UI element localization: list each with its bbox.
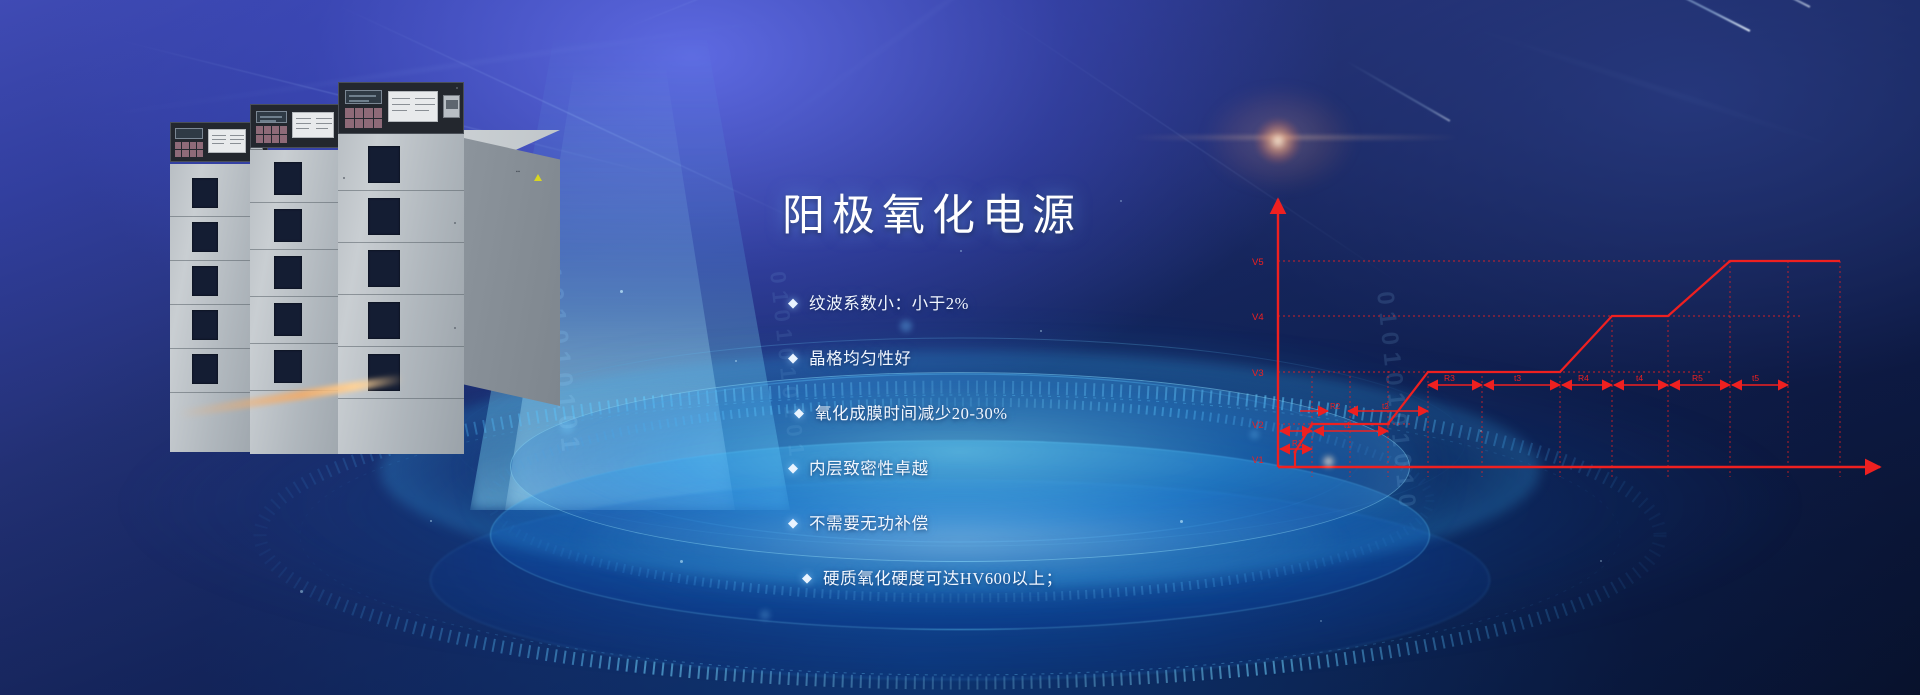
diamond-bullet-icon: ◆: [802, 571, 812, 584]
particle: [1320, 620, 1322, 622]
cabinet-lcd-display: [256, 111, 287, 123]
diamond-bullet-icon: ◆: [788, 351, 798, 364]
keypad-key[interactable]: [364, 108, 373, 118]
particle: [1120, 200, 1122, 202]
cabinet-vent: [274, 303, 302, 336]
cabinet-vent: [274, 209, 302, 242]
cabinet-nameplate: [208, 129, 246, 153]
list-item: ◆ 纹波系数小：小于2%: [788, 290, 1308, 314]
interval-label-t4: t4: [1636, 373, 1643, 383]
particle: [735, 360, 737, 362]
cabinet-meter: [443, 95, 460, 118]
cabinet-vent: [368, 198, 400, 235]
keypad-key[interactable]: [264, 135, 271, 143]
meteor-streak: [1580, 0, 1750, 32]
y-tick-label: V1: [1252, 455, 1264, 466]
list-item: ◆ 氧化成膜时间减少20-30%: [794, 400, 1308, 424]
y-tick-label: V4: [1252, 312, 1264, 323]
chart-axes: [1278, 199, 1880, 467]
cabinet-keypad: [175, 142, 203, 157]
interval-label-R3: R3: [1444, 373, 1455, 383]
cabinet-vent: [192, 222, 218, 252]
cabinet-vent: [368, 146, 400, 183]
keypad-key[interactable]: [280, 126, 287, 134]
cabinet-vent: [274, 256, 302, 289]
page-title: 阳极氧化电源: [782, 181, 1082, 243]
keypad-key[interactable]: [190, 142, 196, 149]
particle: [1600, 560, 1602, 562]
keypad-key[interactable]: [364, 119, 373, 129]
chart-waveform: [1278, 261, 1840, 467]
keypad-key[interactable]: [345, 119, 354, 129]
list-item-label: 内层致密性卓越: [809, 455, 929, 479]
y-tick-label: V5: [1252, 257, 1264, 268]
bokeh-light: [760, 610, 770, 620]
list-item: ◆ 硬质氧化硬度可达HV600以上；: [802, 565, 1308, 589]
meteor-streak: [1346, 60, 1451, 121]
diamond-bullet-icon: ◆: [788, 516, 798, 529]
interval-label-t5: t5: [1752, 373, 1759, 383]
diamond-bullet-icon: ◆: [788, 296, 798, 309]
particle: [300, 590, 303, 593]
cabinet-vent: [192, 266, 218, 296]
interval-label-t1: t1: [1344, 421, 1351, 430]
keypad-key[interactable]: [272, 126, 279, 134]
keypad-key[interactable]: [197, 142, 203, 149]
y-tick-label: V3: [1252, 368, 1264, 379]
keypad-key[interactable]: [175, 142, 181, 149]
particle: [960, 250, 962, 252]
cabinet-vent: [274, 350, 302, 383]
keypad-key[interactable]: [182, 142, 188, 149]
light-streak: [1449, 20, 1859, 155]
cabinet-vent: [192, 354, 218, 384]
cabinet-vent: [192, 178, 218, 208]
list-item: ◆ 晶格均匀性好: [788, 345, 1308, 369]
interval-label-R5: R5: [1692, 373, 1703, 383]
keypad-key[interactable]: [374, 108, 383, 118]
keypad-key[interactable]: [355, 108, 364, 118]
keypad-key[interactable]: [175, 150, 181, 157]
warning-triangle-icon: [534, 174, 542, 181]
interval-label-t2: t2: [1382, 402, 1389, 411]
interval-label-R1: R1: [1292, 439, 1303, 448]
keypad-key[interactable]: [256, 126, 263, 134]
chart-gridlines-y: [1278, 261, 1840, 424]
light-streak: [700, 0, 1203, 182]
list-item-label: 硬质氧化硬度可达HV600以上；: [823, 565, 1063, 589]
lens-flare-core: [1255, 118, 1301, 164]
chart-gridlines-x: [1312, 261, 1840, 477]
cabinet-vent: [368, 354, 400, 391]
keypad-key[interactable]: [355, 119, 364, 129]
chart-svg: V5 V4 V3 V2 V1 R1 t1 R2: [1240, 185, 1900, 495]
keypad-key[interactable]: [182, 150, 188, 157]
list-item-label: 氧化成膜时间减少20-30%: [815, 400, 1008, 424]
list-item-label: 纹波系数小：小于2%: [809, 290, 969, 314]
cabinet-keypad: [256, 126, 287, 143]
interval-label-R4: R4: [1578, 373, 1589, 383]
cabinet-nameplate: [292, 112, 334, 138]
list-item-label: 不需要无功补偿: [809, 510, 929, 534]
keypad-key[interactable]: [280, 135, 287, 143]
cabinet-lcd-display: [175, 128, 203, 139]
keypad-key[interactable]: [345, 108, 354, 118]
voltage-ramp-chart: V5 V4 V3 V2 V1 R1 t1 R2: [1240, 185, 1900, 495]
diamond-bullet-icon: ◆: [788, 461, 798, 474]
chart-y-tick-labels: V5 V4 V3 V2 V1: [1252, 257, 1264, 466]
keypad-key[interactable]: [374, 119, 383, 129]
feature-list: ◆ 纹波系数小：小于2% ◆ 晶格均匀性好 ◆ 氧化成膜时间减少20-30% ◆…: [788, 290, 1308, 620]
banner-stage: 010101010101 0101010101 01010101010: [0, 0, 1920, 695]
cabinet-vent: [192, 310, 218, 340]
particle: [430, 520, 432, 522]
interval-label-t3: t3: [1514, 373, 1521, 383]
keypad-key[interactable]: [264, 126, 271, 134]
keypad-key[interactable]: [256, 135, 263, 143]
particle: [620, 290, 623, 293]
cabinet-vent: [274, 162, 302, 195]
keypad-key[interactable]: [190, 150, 196, 157]
cabinet-vent: [368, 250, 400, 287]
list-item-label: 晶格均匀性好: [809, 345, 912, 369]
cabinet-vent: [368, 302, 400, 339]
equipment-cabinets: ▪▪: [170, 78, 560, 478]
lens-flare-halo: [1205, 86, 1355, 192]
origin-glow: [1322, 455, 1335, 468]
light-streak: [620, 0, 1010, 31]
keypad-key[interactable]: [272, 135, 279, 143]
cabinet-front: ▪▪: [338, 82, 568, 454]
cabinet-side-label: ▪▪: [516, 169, 520, 175]
chart-interval-labels-upper: R3 t3 R4 t4 R5 t5: [1444, 373, 1759, 383]
interval-label-R2: R2: [1330, 402, 1341, 411]
cabinet-lcd-display: [345, 90, 382, 104]
diamond-bullet-icon: ◆: [794, 406, 804, 419]
particle: [680, 560, 683, 563]
keypad-key[interactable]: [197, 150, 203, 157]
y-tick-label: V2: [1252, 420, 1264, 431]
cabinet-keypad: [345, 108, 382, 128]
cabinet-side-face: [464, 138, 560, 406]
chart-interval-labels-mid: R2 t2: [1330, 402, 1389, 411]
cabinet-nameplate: [388, 91, 438, 122]
list-item: ◆ 内层致密性卓越: [788, 455, 1308, 479]
list-item: ◆ 不需要无功补偿: [788, 510, 1308, 534]
